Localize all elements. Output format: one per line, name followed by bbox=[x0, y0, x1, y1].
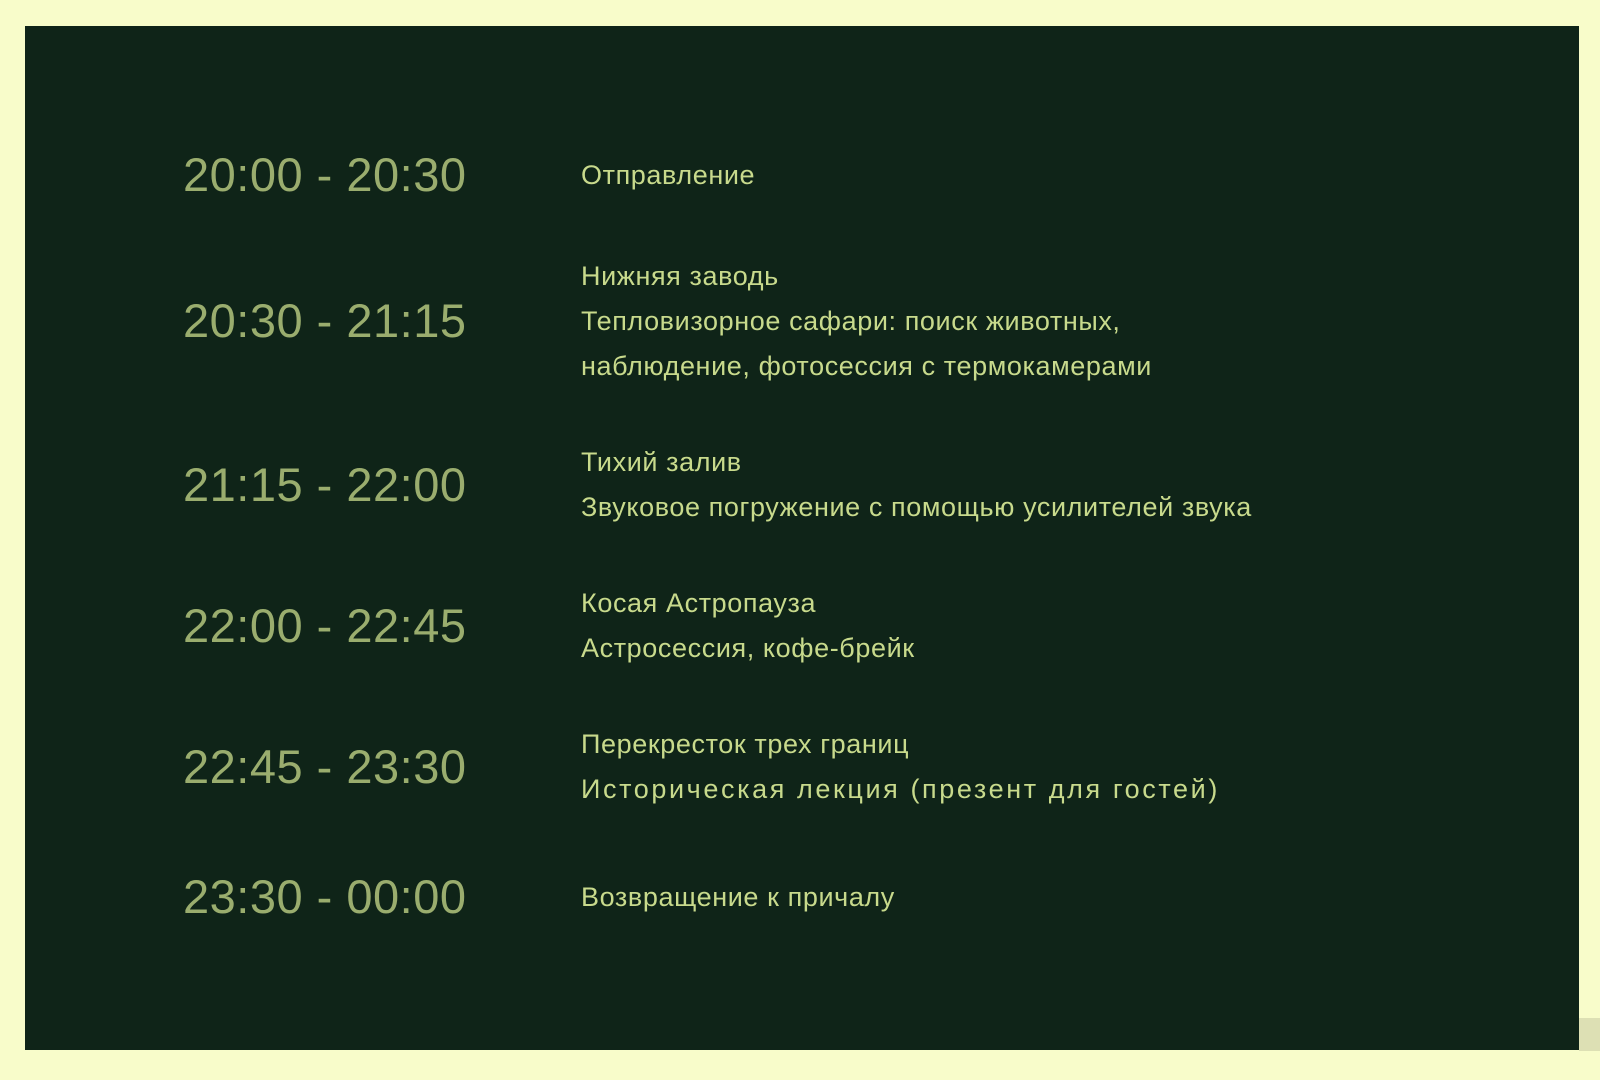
schedule-row-title: Возвращение к причалу bbox=[581, 875, 1579, 920]
schedule-row-description: Астросессия, кофе-брейк bbox=[581, 626, 1579, 671]
schedule-row-title: Косая Астропауза bbox=[581, 581, 1579, 626]
schedule-row-title: Тихий залив bbox=[581, 440, 1579, 485]
schedule-row-time: 20:30 - 21:15 bbox=[183, 296, 581, 345]
schedule-row-body: Возвращение к причалу bbox=[581, 875, 1579, 920]
schedule-row-body: Косая Астропауза Астросессия, кофе-брейк bbox=[581, 581, 1579, 671]
schedule-row-description: Тепловизорное сафари: поиск животных, bbox=[581, 299, 1579, 344]
schedule-row-description: наблюдение, фотосессия с термокамерами bbox=[581, 344, 1579, 389]
schedule-row-body: Нижняя заводь Тепловизорное сафари: поис… bbox=[581, 254, 1579, 389]
schedule-row-time: 22:00 - 22:45 bbox=[183, 601, 581, 650]
schedule-row: 23:30 - 00:00 Возвращение к причалу bbox=[25, 837, 1579, 957]
schedule-row: 20:00 - 20:30 Отправление bbox=[25, 122, 1579, 228]
panel-drop-shadow bbox=[1579, 1018, 1600, 1051]
schedule-panel: 20:00 - 20:30 Отправление 20:30 - 21:15 … bbox=[25, 26, 1579, 1050]
schedule-row-time: 23:30 - 00:00 bbox=[183, 872, 581, 921]
schedule-row-title: Отправление bbox=[581, 153, 1579, 198]
schedule-row-title: Нижняя заводь bbox=[581, 254, 1579, 299]
schedule-row-description: Историческая лекция (презент для гостей) bbox=[581, 767, 1579, 812]
schedule-row: 20:30 - 21:15 Нижняя заводь Тепловизорно… bbox=[25, 228, 1579, 414]
schedule-row-title: Перекресток трех границ bbox=[581, 722, 1579, 767]
schedule-row: 21:15 - 22:00 Тихий залив Звуковое погру… bbox=[25, 414, 1579, 555]
schedule-row-description: Звуковое погружение с помощью усилителей… bbox=[581, 485, 1579, 530]
schedule-row-time: 20:00 - 20:30 bbox=[183, 150, 581, 199]
schedule-list: 20:00 - 20:30 Отправление 20:30 - 21:15 … bbox=[25, 122, 1579, 957]
schedule-row-time: 21:15 - 22:00 bbox=[183, 460, 581, 509]
schedule-row-body: Тихий залив Звуковое погружение с помощь… bbox=[581, 440, 1579, 530]
schedule-row-body: Перекресток трех границ Историческая лек… bbox=[581, 722, 1579, 812]
schedule-row-body: Отправление bbox=[581, 153, 1579, 198]
schedule-row: 22:45 - 23:30 Перекресток трех границ Ис… bbox=[25, 696, 1579, 837]
schedule-row: 22:00 - 22:45 Косая Астропауза Астросесс… bbox=[25, 555, 1579, 696]
schedule-row-time: 22:45 - 23:30 bbox=[183, 742, 581, 791]
